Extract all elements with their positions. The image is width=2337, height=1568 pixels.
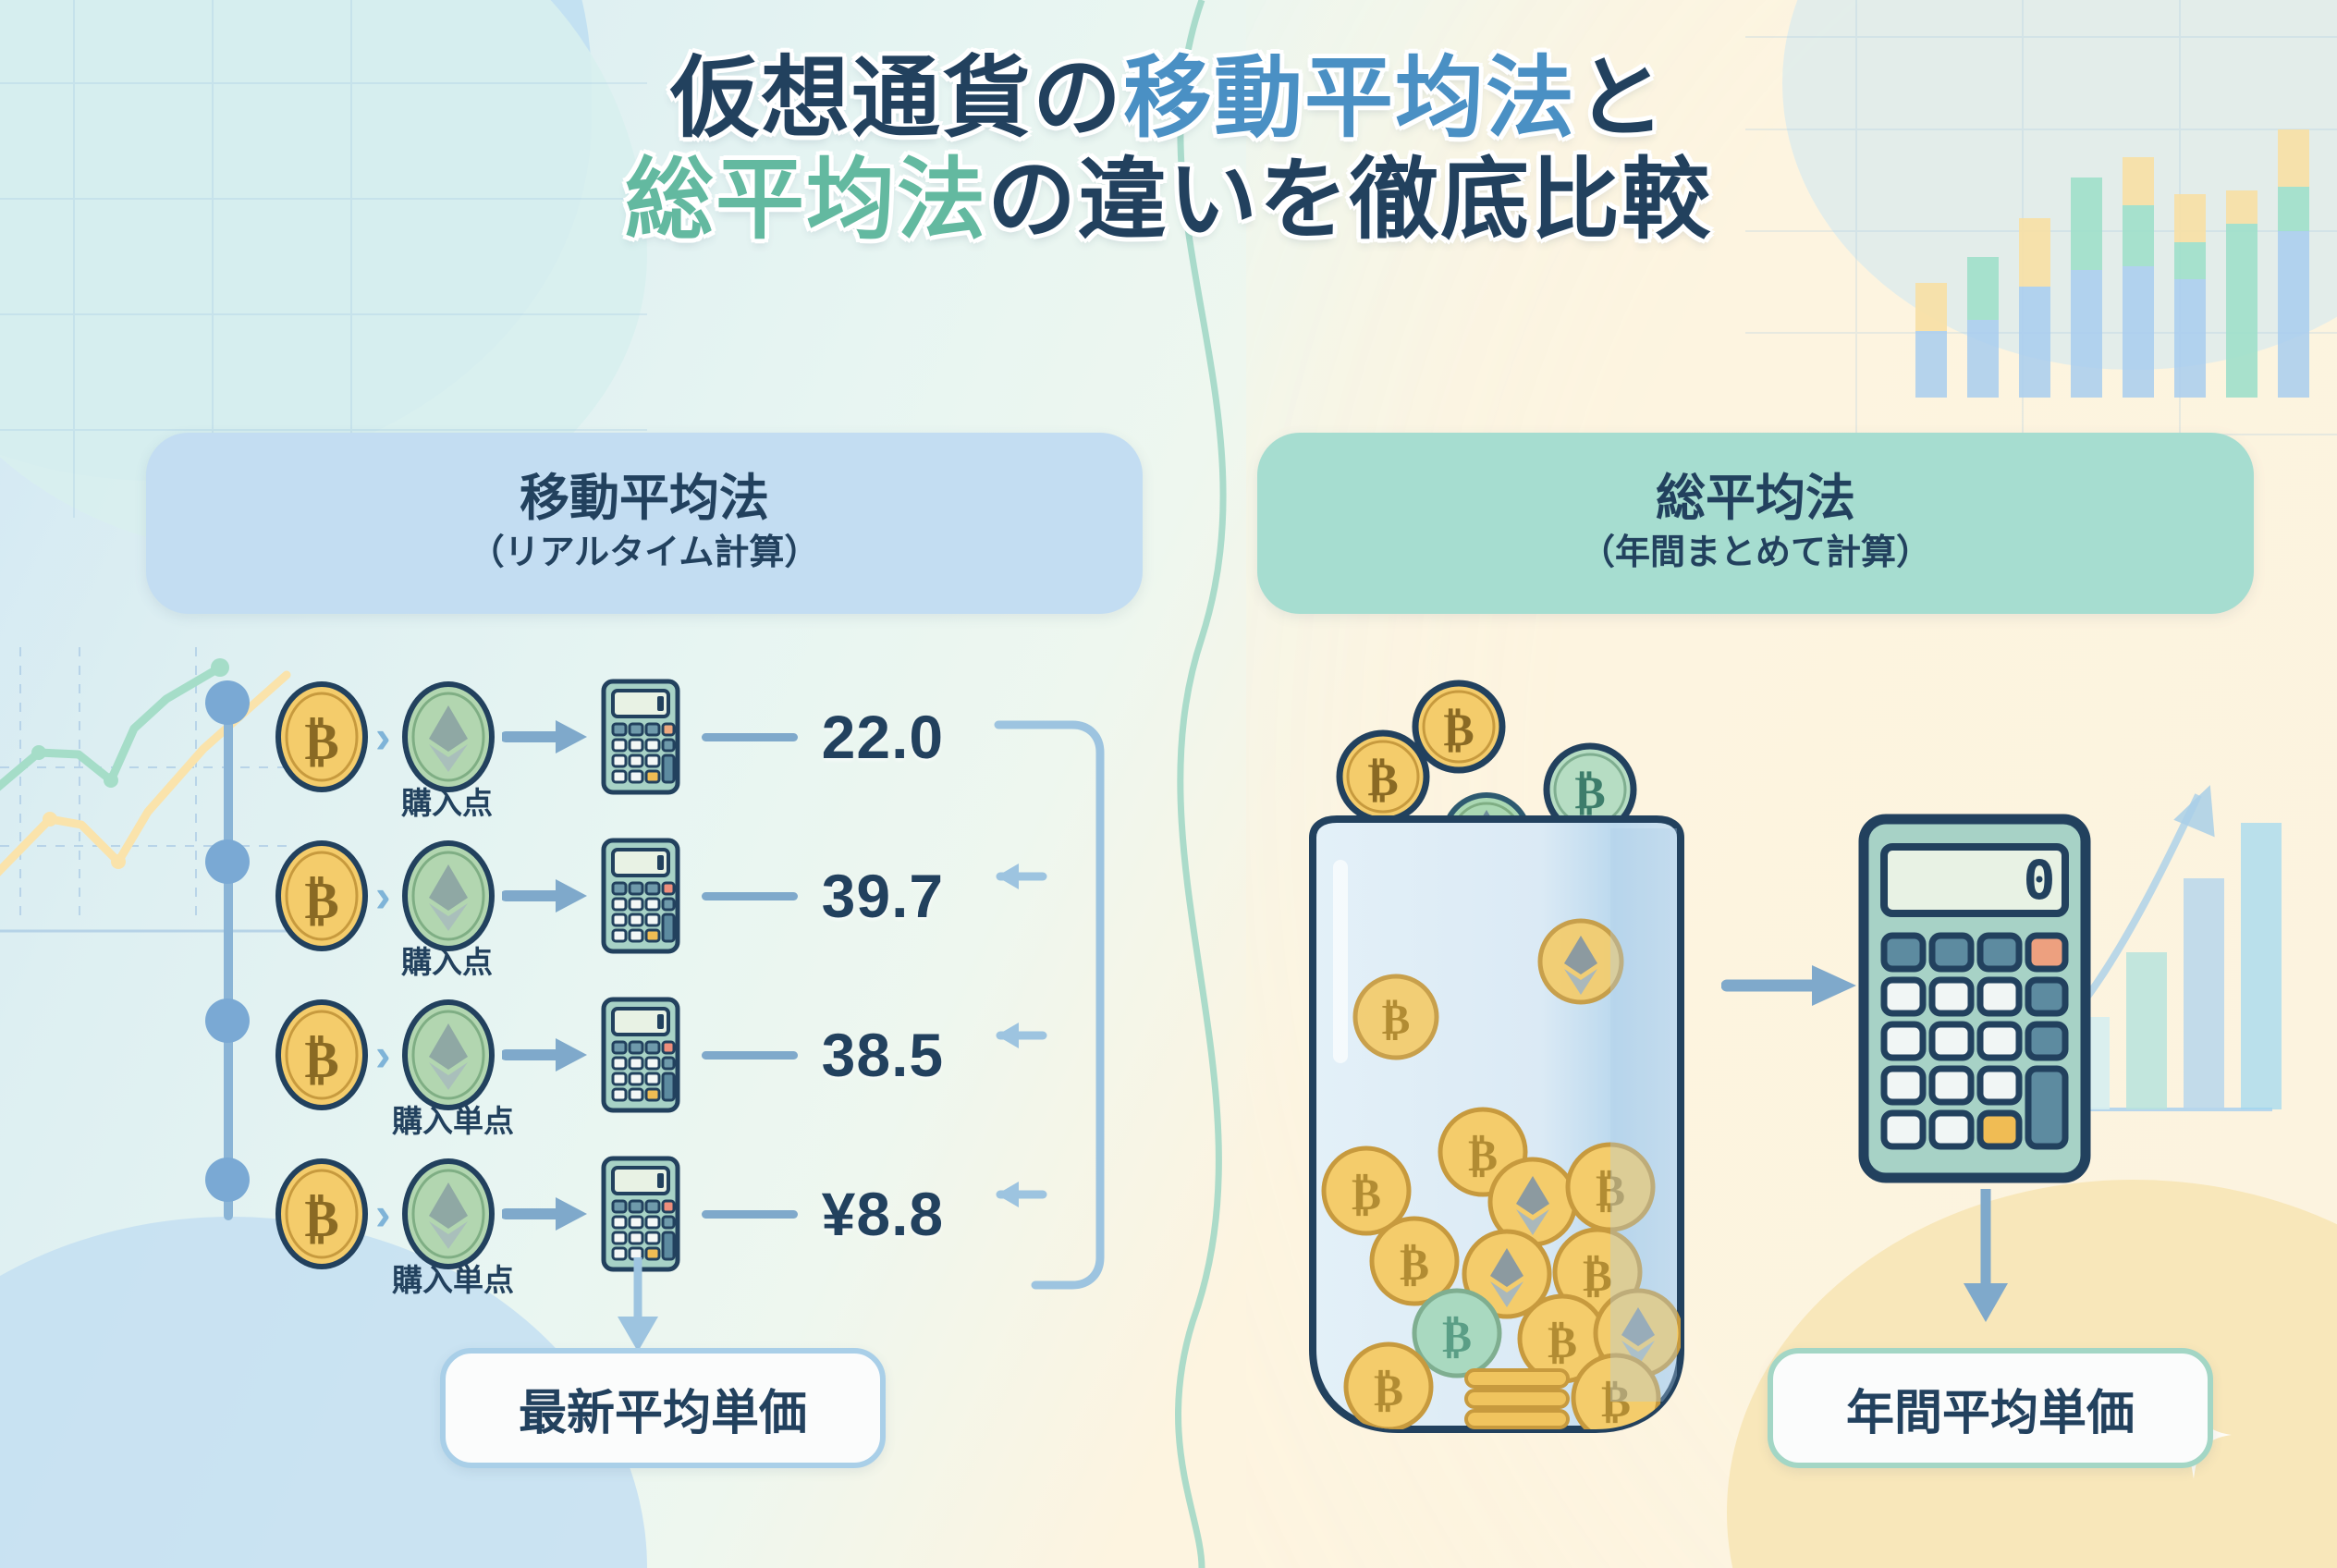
svg-text:₿: ₿ <box>1468 1132 1498 1181</box>
title-part-prefix: 仮想通貨の <box>670 49 1123 148</box>
step-value: ¥8.8 <box>822 1179 944 1249</box>
step-value: 38.5 <box>822 1020 944 1090</box>
chevron-right-icon: › <box>375 1191 391 1237</box>
title-line-1: 仮想通貨の移動平均法と <box>0 48 2337 150</box>
result-box-latest-average: 最新平均単価 <box>440 1348 886 1468</box>
calculator-icon <box>600 678 681 796</box>
coin-jar: ₿ ₿ ₿ ₿ <box>1285 647 1766 1479</box>
calculator-icon <box>600 837 681 955</box>
arrow-right-icon <box>502 874 591 918</box>
connector-line <box>702 892 798 900</box>
page-title: 仮想通貨の移動平均法と 総平均法の違いを徹底比較 <box>0 48 2337 252</box>
purchase-timeline <box>218 703 237 1220</box>
svg-text:₿: ₿ <box>1443 704 1474 755</box>
step-value: 22.0 <box>822 702 944 772</box>
svg-text:₿: ₿ <box>304 1032 338 1089</box>
flow-row: ₿ › <box>274 986 944 1124</box>
title-part-suffix: の違いを徹底比較 <box>987 151 1712 250</box>
connector-line <box>702 733 798 741</box>
panel-right-subheading: （年間まとめて計算） <box>1580 531 1931 576</box>
svg-text:₿: ₿ <box>1548 1318 1577 1367</box>
ethereum-coin <box>400 998 496 1112</box>
svg-text:₿: ₿ <box>1583 1252 1612 1301</box>
svg-text:₿: ₿ <box>1367 753 1398 805</box>
calculator-icon-large: 0 <box>1858 814 2091 1183</box>
result-label-right: 年間平均単価 <box>1846 1374 2135 1443</box>
panel-left-subheading: （リアルタイム計算） <box>470 531 820 576</box>
bitcoin-coin: ₿ <box>274 1157 370 1271</box>
svg-text:₿: ₿ <box>304 1191 338 1248</box>
ethereum-coin <box>400 839 496 953</box>
falling-coin-bitcoin-1: ₿ <box>1415 683 1502 770</box>
panel-right-heading: 総平均法 <box>1656 470 1855 529</box>
step-label: 購入点 <box>401 937 493 982</box>
arrow-down-to-result-left <box>610 1257 666 1359</box>
svg-text:₿: ₿ <box>1352 1170 1381 1219</box>
ethereum-coin <box>400 1157 496 1271</box>
bitcoin-coin: ₿ <box>274 998 370 1112</box>
step-label: 購入単点 <box>392 1096 514 1141</box>
calculator-icon <box>600 1155 681 1273</box>
step-label: 購入単点 <box>392 1256 514 1300</box>
flow-row: ₿ › <box>274 827 944 965</box>
svg-text:₿: ₿ <box>1574 766 1605 818</box>
timeline-bar <box>224 703 233 1220</box>
svg-text:₿: ₿ <box>1382 996 1411 1043</box>
connector-line <box>702 1210 798 1219</box>
calculator-display-value: 0 <box>2024 849 2056 912</box>
arrow-right-icon <box>502 715 591 759</box>
timeline-dot-1 <box>205 680 250 725</box>
infographic-canvas: 仮想通貨の移動平均法と 総平均法の違いを徹底比較 移動平均法 （リアルタイム計算… <box>0 0 2337 1568</box>
title-part-and: と <box>1576 49 1667 148</box>
panel-left-heading: 移動平均法 <box>520 470 769 529</box>
arrow-right-to-calculator <box>1721 958 1860 1013</box>
svg-text:₿: ₿ <box>1374 1366 1403 1415</box>
arrow-right-icon <box>502 1192 591 1236</box>
title-part-total-average: 総平均法 <box>625 151 987 250</box>
flow-row: ₿ › <box>274 668 944 806</box>
panel-header-total-average: 総平均法 （年間まとめて計算） <box>1257 433 2254 614</box>
connector-line <box>702 1051 798 1060</box>
title-part-moving-average: 移動平均法 <box>1123 49 1576 148</box>
timeline-dot-3 <box>205 998 250 1043</box>
result-label-left: 最新平均単価 <box>519 1374 807 1443</box>
svg-text:₿: ₿ <box>304 714 338 771</box>
timeline-dot-2 <box>205 839 250 884</box>
timeline-dot-4 <box>205 1158 250 1202</box>
step-value: 39.7 <box>822 861 944 931</box>
ethereum-coin <box>400 680 496 794</box>
panel-header-moving-average: 移動平均法 （リアルタイム計算） <box>146 433 1143 614</box>
result-box-annual-average: 年間平均単価 <box>1768 1348 2213 1468</box>
title-line-2: 総平均法の違いを徹底比較 <box>0 150 2337 251</box>
calculator-icon <box>600 996 681 1114</box>
chevron-right-icon: › <box>375 873 391 919</box>
arrow-down-to-result-right <box>1958 1189 2013 1328</box>
falling-coin-bitcoin-2: ₿ <box>1340 733 1426 820</box>
value-bracket-connector <box>980 703 1202 1350</box>
chevron-right-icon: › <box>375 1032 391 1078</box>
chevron-right-icon: › <box>375 714 391 760</box>
bitcoin-coin: ₿ <box>274 839 370 953</box>
bitcoin-coin: ₿ <box>274 680 370 794</box>
svg-text:₿: ₿ <box>1400 1241 1429 1290</box>
flow-row: ₿ › <box>274 1145 944 1283</box>
arrow-right-icon <box>502 1033 591 1077</box>
step-label: 購入点 <box>401 778 493 823</box>
svg-text:₿: ₿ <box>1442 1313 1472 1362</box>
svg-text:₿: ₿ <box>304 873 338 930</box>
